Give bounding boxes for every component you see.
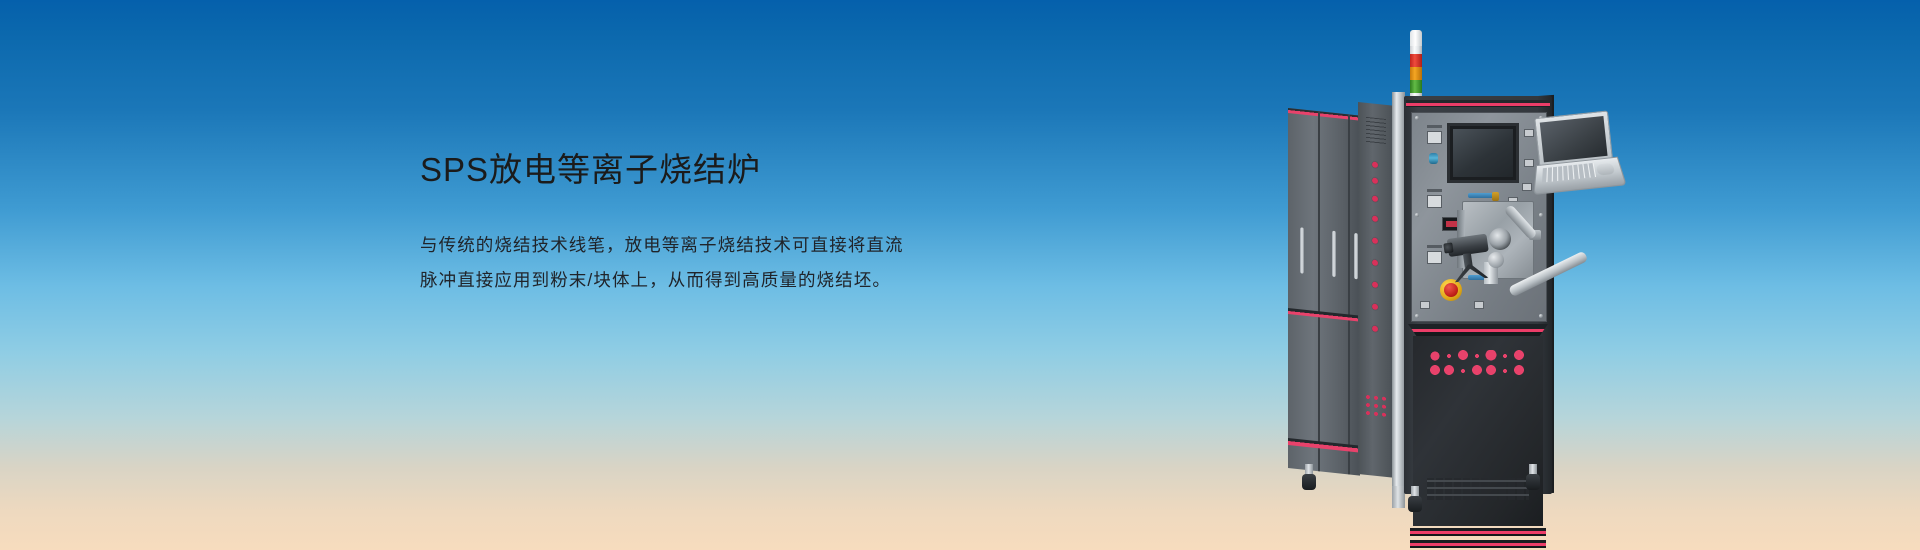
gas-pipe-top — [1468, 193, 1494, 198]
switch-label — [1427, 125, 1442, 128]
page-title: SPS放电等离子烧结炉 — [420, 150, 1060, 190]
rocker-switch[interactable] — [1427, 131, 1442, 144]
reset-button[interactable] — [1420, 301, 1430, 309]
hmi-screen-surface[interactable] — [1453, 129, 1513, 177]
indicator-button[interactable] — [1522, 183, 1532, 191]
banner-description: 与传统的烧结技术线笔，放电等离子烧结技术可直接将直流 脉冲直接应用到粉末/块体上… — [420, 228, 1060, 298]
status-indicator — [1372, 325, 1378, 332]
camera-lens — [1443, 242, 1453, 253]
ventilation-grille — [1427, 478, 1529, 500]
status-indicator — [1372, 161, 1378, 168]
led-dot-pattern — [1427, 350, 1531, 376]
product-image-sps-furnace — [1288, 24, 1618, 524]
vent-louvers — [1366, 117, 1386, 145]
panel-screw — [1415, 314, 1419, 318]
caster-roller — [1302, 474, 1316, 490]
banner-text-block: SPS放电等离子烧结炉 与传统的烧结技术线笔，放电等离子烧结技术可直接将直流 脉… — [420, 150, 1060, 298]
panel-screw — [1539, 213, 1543, 217]
status-indicator — [1372, 215, 1378, 222]
side-cabinet — [1288, 108, 1360, 476]
status-indicator — [1372, 237, 1378, 244]
main-cabinet — [1404, 96, 1552, 494]
indicator-button[interactable] — [1524, 129, 1534, 137]
tower-light-red — [1410, 54, 1422, 67]
description-line-1: 与传统的烧结技术线笔，放电等离子烧结技术可直接将直流 — [420, 228, 1060, 263]
lower-cabinet-door[interactable] — [1413, 336, 1543, 526]
caster-wheel — [1302, 464, 1316, 490]
caster-roller — [1408, 496, 1422, 512]
laptop-keyboard[interactable] — [1542, 163, 1596, 183]
status-indicator — [1372, 303, 1378, 310]
indicator-column — [1358, 102, 1394, 478]
tower-light-green — [1410, 80, 1422, 93]
side-door-split-2 — [1348, 114, 1350, 474]
status-indicator — [1372, 177, 1378, 184]
status-indicator — [1372, 195, 1378, 202]
panel-screw — [1539, 314, 1543, 318]
rocker-switch[interactable] — [1427, 251, 1442, 264]
status-indicator — [1372, 281, 1378, 288]
rocker-switch[interactable] — [1427, 195, 1442, 208]
switch-label — [1427, 189, 1442, 192]
laptop-trackpad[interactable] — [1596, 163, 1615, 176]
led-array — [1364, 393, 1388, 426]
mid-accent-shoulder — [1408, 324, 1548, 336]
tower-light-amber — [1410, 67, 1422, 80]
emergency-stop-cap[interactable] — [1444, 283, 1458, 297]
bottom-accent-stripe — [1410, 528, 1546, 536]
panel-screw — [1415, 116, 1419, 120]
selector-knob[interactable] — [1429, 153, 1438, 164]
top-accent-stripe — [1406, 100, 1550, 107]
control-laptop[interactable] — [1534, 110, 1618, 194]
side-door-split-1 — [1318, 111, 1320, 471]
caster-wheel — [1408, 486, 1422, 512]
indicator-button[interactable] — [1524, 159, 1534, 167]
description-line-2: 脉冲直接应用到粉末/块体上，从而得到高质量的烧结坯。 — [420, 263, 1060, 298]
cabinet-handle — [1300, 227, 1304, 273]
cabinet-handle — [1332, 231, 1336, 277]
laptop-screen[interactable] — [1540, 116, 1608, 162]
status-indicator — [1372, 259, 1378, 266]
caster-roller — [1526, 474, 1540, 490]
tower-light-cap — [1410, 30, 1422, 46]
hmi-display[interactable] — [1447, 123, 1519, 183]
switch-label — [1427, 245, 1442, 248]
pipe-elbow-top — [1492, 192, 1499, 201]
caster-wheel — [1526, 464, 1540, 490]
emergency-stop-button[interactable] — [1440, 279, 1462, 301]
bottom-accent-stripe — [1410, 540, 1546, 548]
panel-screw — [1415, 213, 1419, 217]
hero-banner: SPS放电等离子烧结炉 与传统的烧结技术线笔，放电等离子烧结技术可直接将直流 脉… — [0, 0, 1920, 550]
aux-button[interactable] — [1474, 301, 1484, 309]
